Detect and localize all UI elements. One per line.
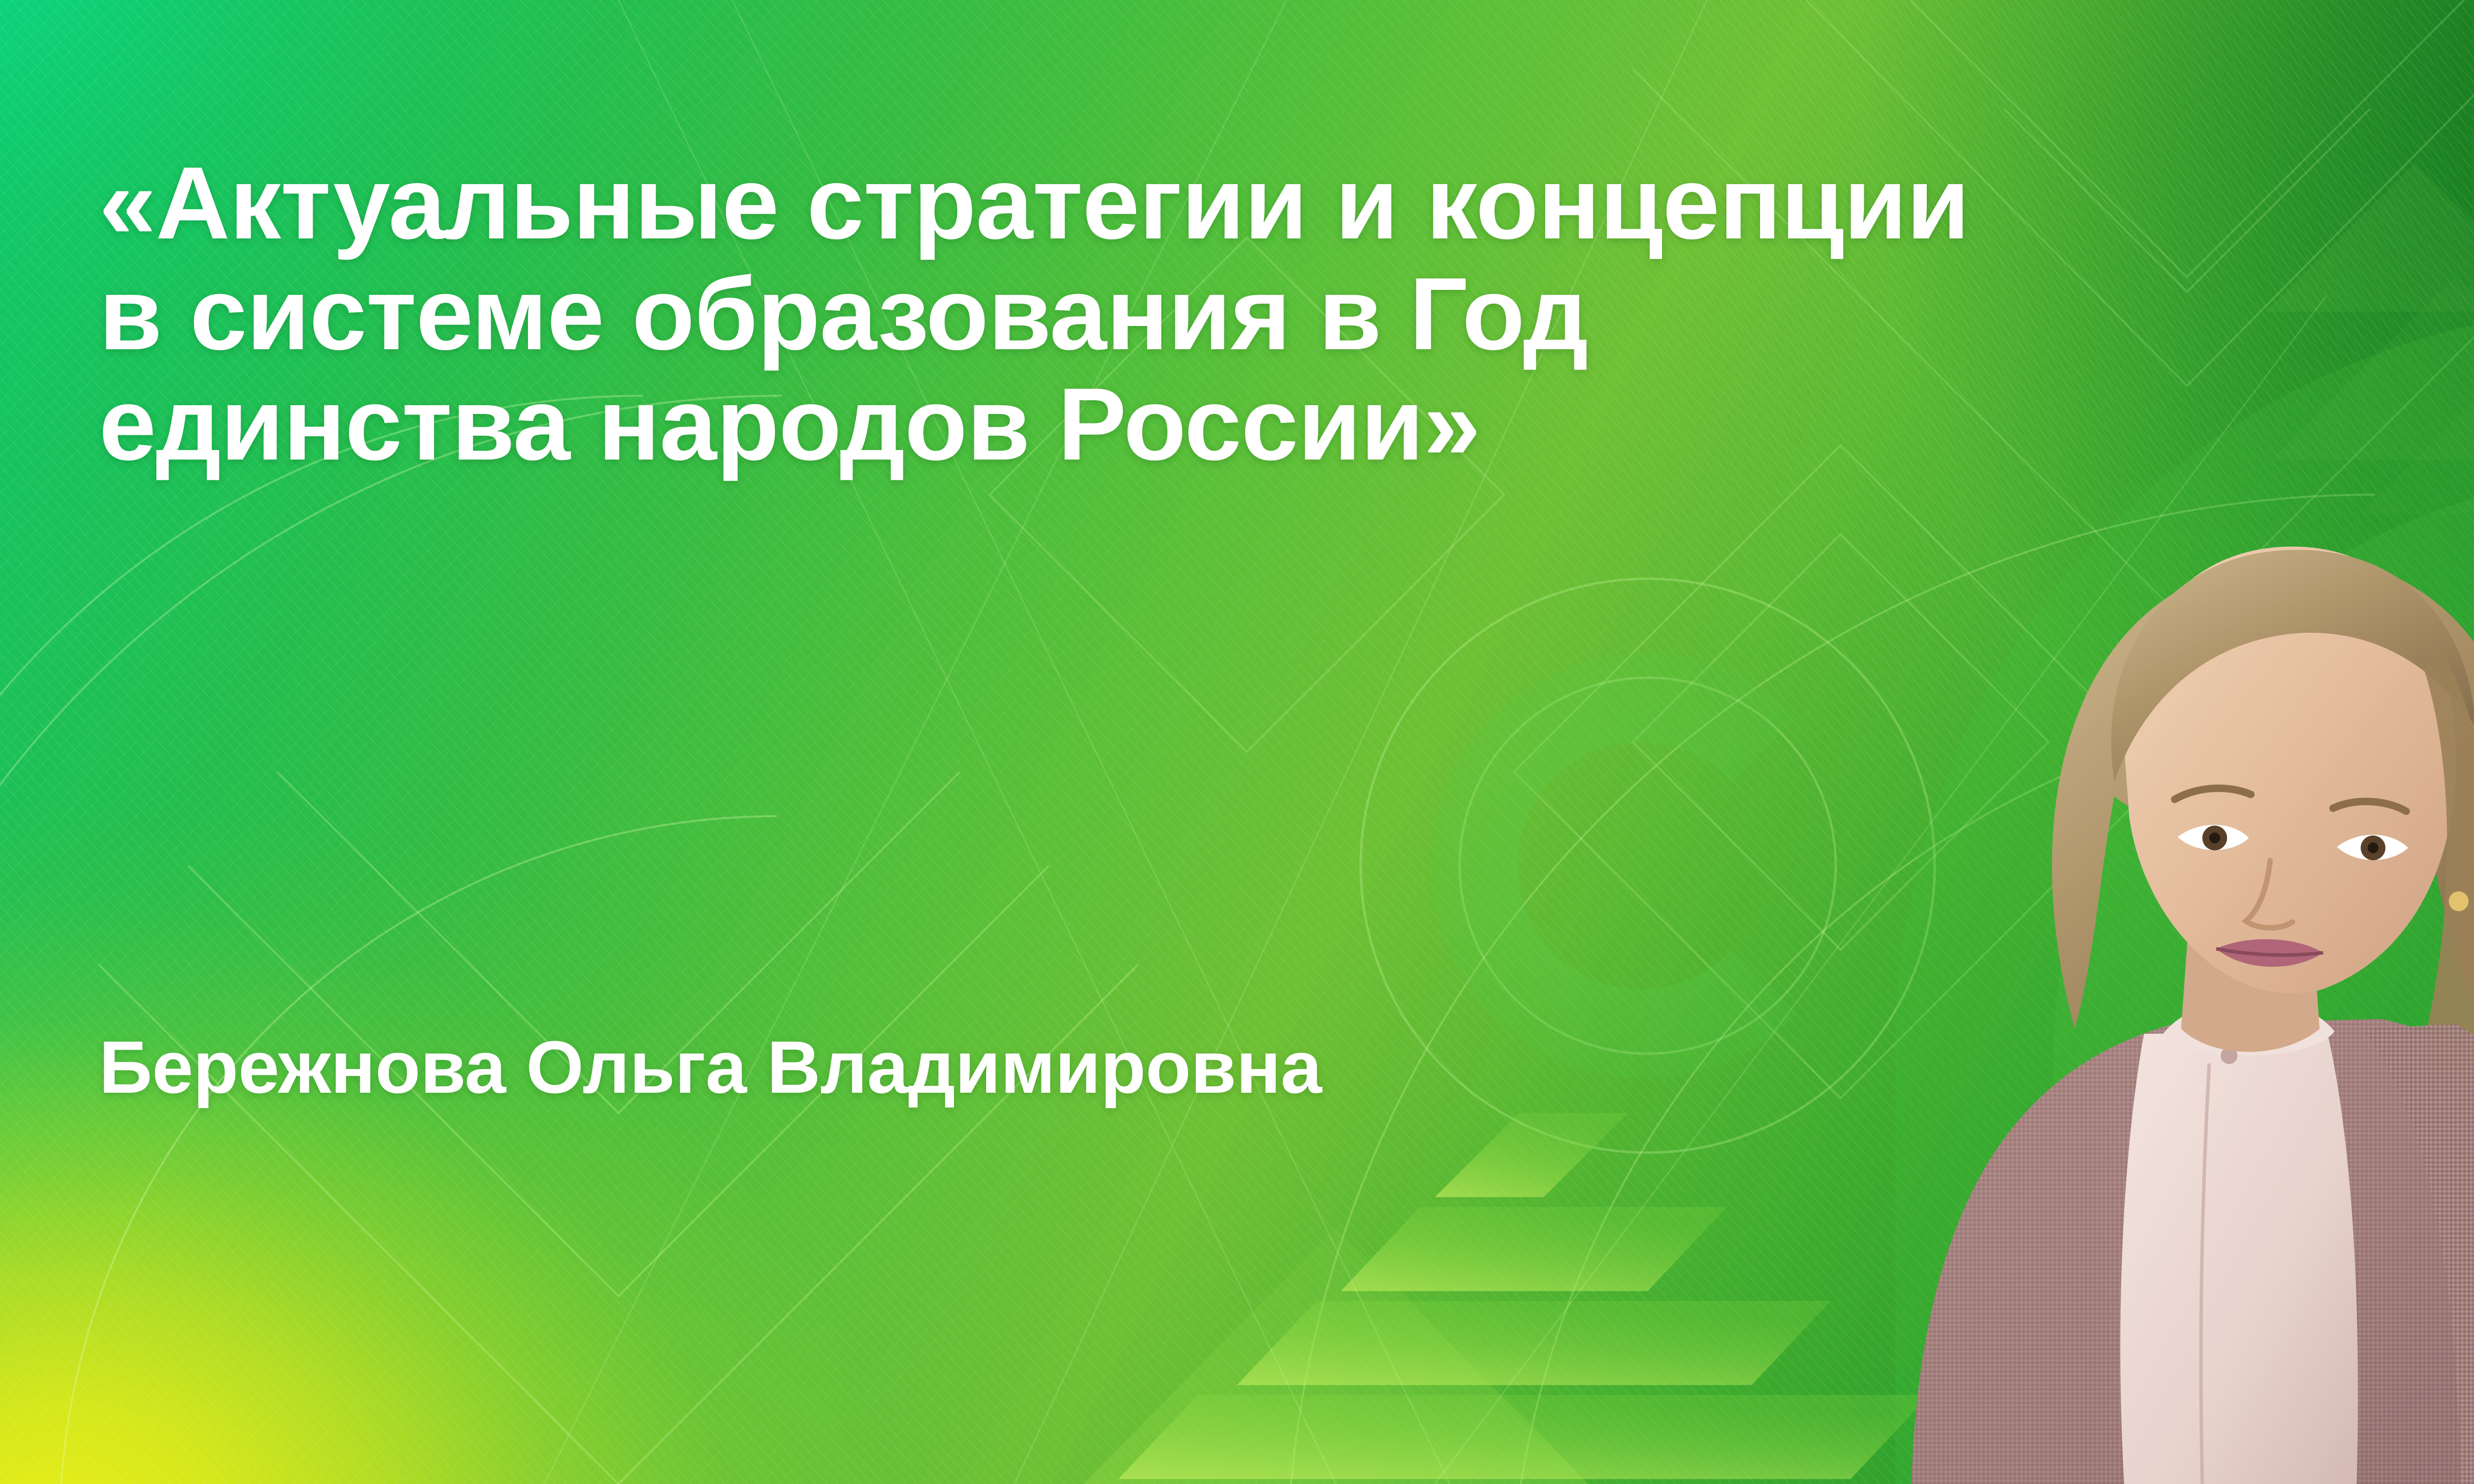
arc-outline-group xyxy=(0,396,782,1484)
geometric-decoration-layer xyxy=(0,0,2474,1484)
chevron-outline-group xyxy=(99,772,1138,1484)
crescent-c-motif xyxy=(1361,579,1935,1153)
stepped-pyramid-motif xyxy=(1084,1113,1930,1484)
presentation-slide: «Актуальные стратегии и концепции в сист… xyxy=(0,0,2474,1484)
